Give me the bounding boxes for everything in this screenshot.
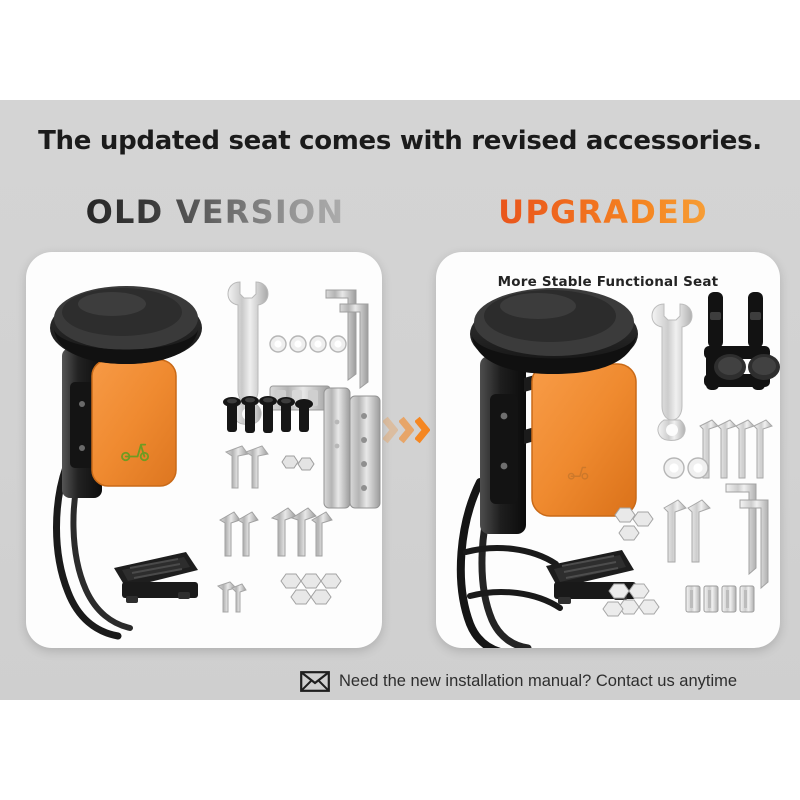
envelope-icon (300, 671, 330, 692)
allen-keys-accessory (726, 484, 768, 588)
wrench-accessory (652, 304, 692, 441)
old-version-label: OLD VERSION (70, 193, 360, 231)
nuts-accessory (282, 456, 314, 470)
footer-text: Need the new installation manual? Contac… (339, 672, 737, 691)
screws-cluster-accessory (220, 512, 258, 556)
footrest (114, 552, 198, 603)
nuts-accessory (603, 584, 659, 616)
black-bolts-accessory (223, 396, 313, 433)
screws-cluster-accessory (272, 508, 332, 556)
nuts-accessory (615, 508, 653, 540)
chevron-right-icon (383, 416, 398, 444)
product-comparison-image: The updated seat comes with revised acce… (0, 0, 800, 800)
washers-accessory (664, 458, 708, 478)
small-bolts-accessory (218, 582, 246, 612)
nuts-group-accessory (281, 574, 341, 604)
clamp-brackets-accessory (704, 292, 780, 390)
upgraded-label: UPGRADED (488, 193, 718, 231)
old-seat-illustration (26, 252, 382, 648)
washers-accessory (270, 336, 346, 352)
spacers-accessory (686, 586, 754, 612)
headline: The updated seat comes with revised acce… (0, 126, 800, 156)
transition-arrow (383, 412, 435, 448)
chevron-right-icon (415, 416, 430, 444)
mounting-tubes-accessory (324, 388, 380, 508)
old-version-card (26, 252, 382, 648)
upgraded-seat-illustration (436, 252, 780, 648)
screws-accessory (664, 500, 710, 562)
silver-screws-accessory (226, 446, 268, 488)
footer-contact[interactable]: Need the new installation manual? Contac… (300, 664, 792, 698)
upgraded-version-card: More Stable Functional Seat (436, 252, 780, 648)
long-bolts-accessory (700, 420, 772, 478)
chevron-right-icon (399, 416, 414, 444)
